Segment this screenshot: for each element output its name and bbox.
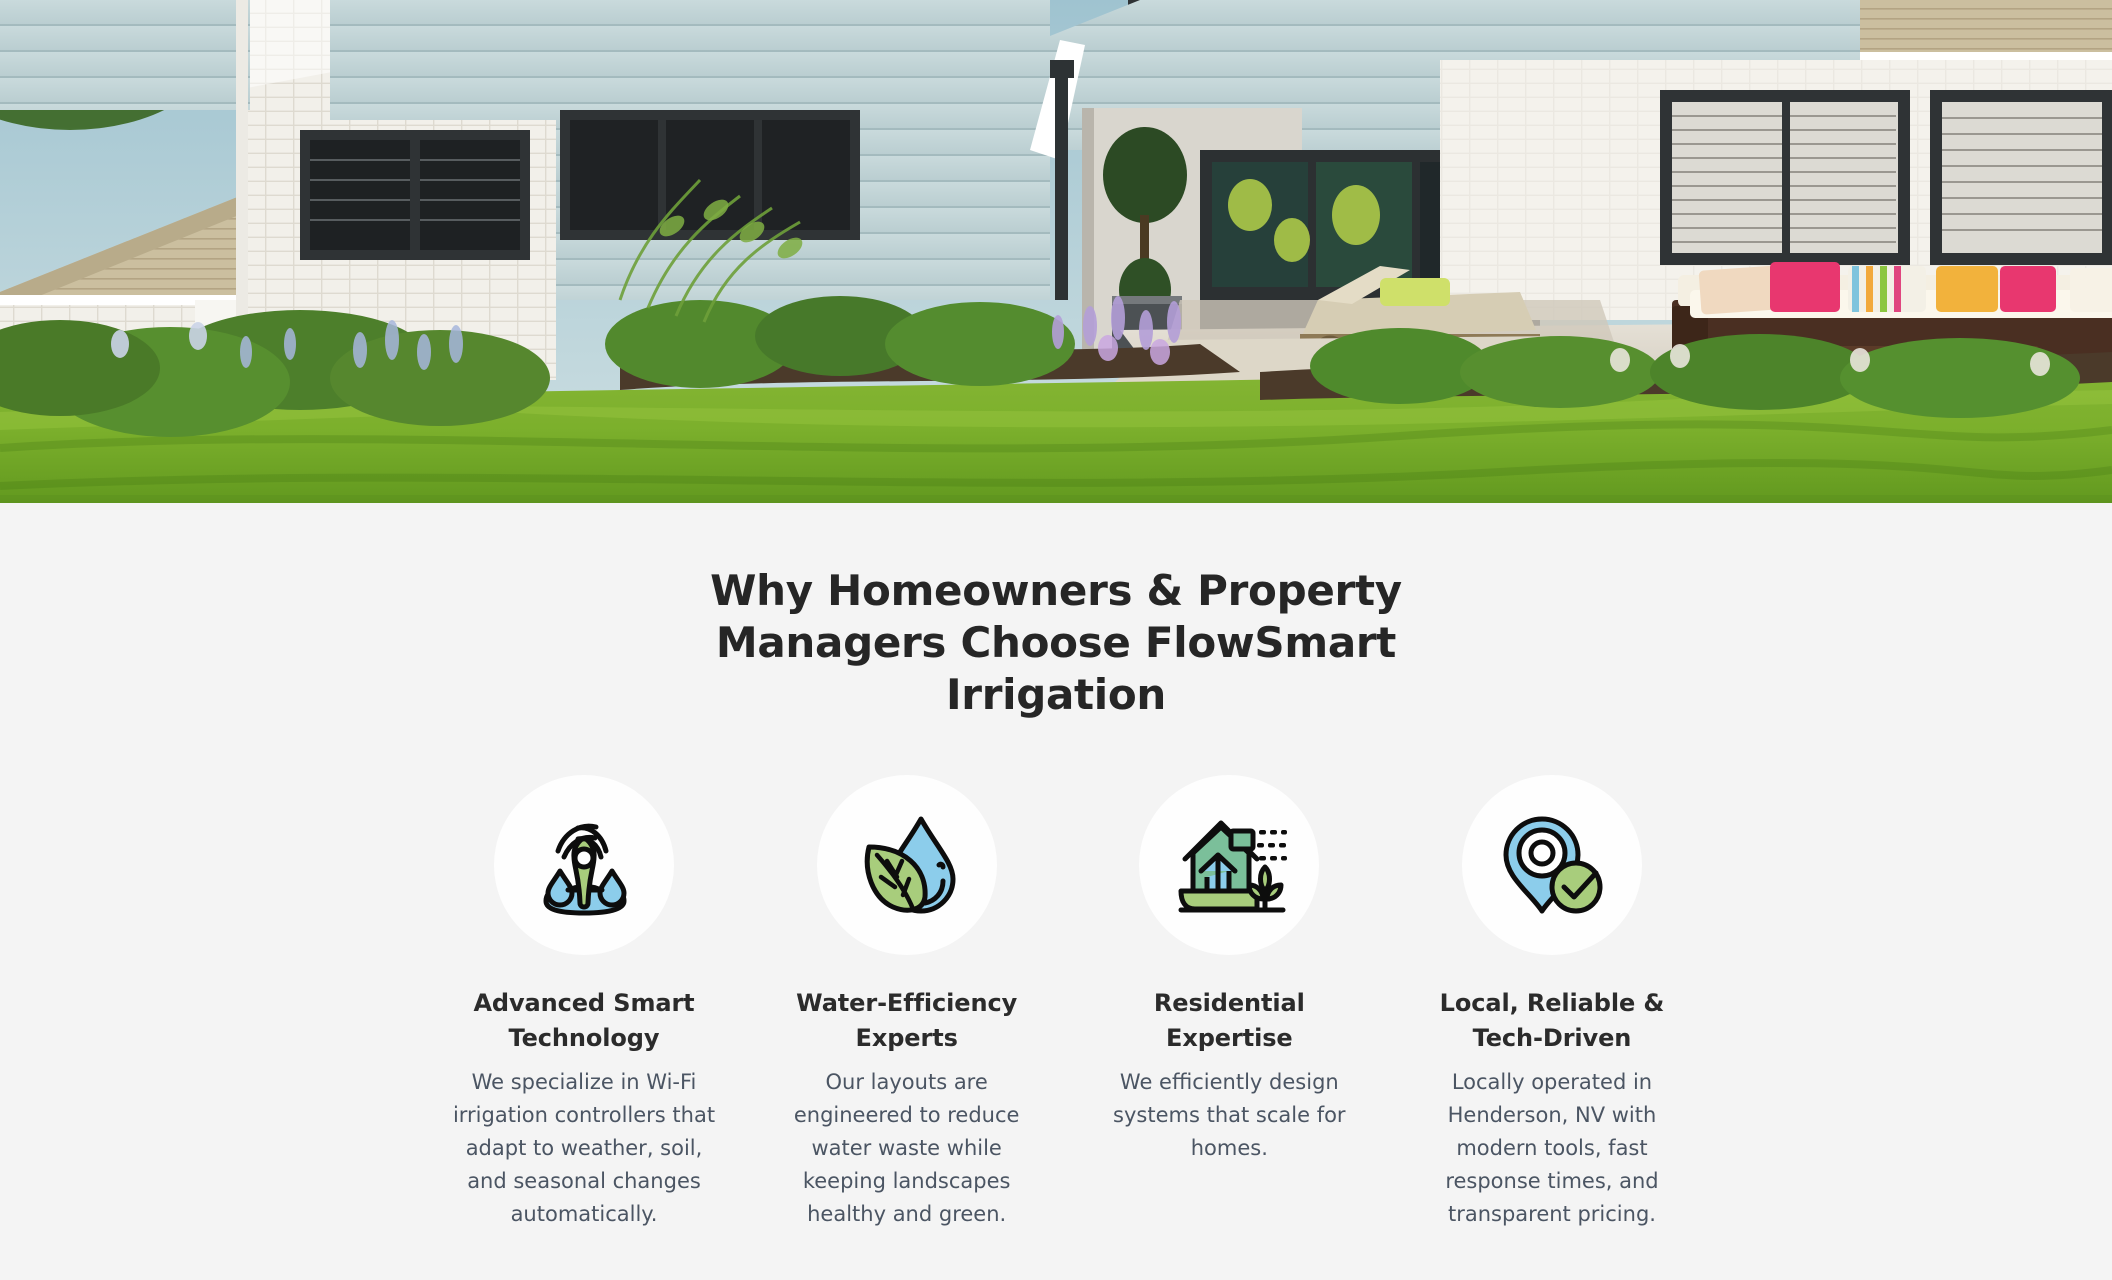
feature-card-title: Advanced Smart Technology <box>452 986 716 1056</box>
feature-card-title: Residential Expertise <box>1097 986 1361 1056</box>
feature-card-local-reliable-tech-driven: Local, Reliable & Tech-Driven Locally op… <box>1420 775 1684 1231</box>
map-pin-check-icon <box>1492 805 1612 925</box>
feature-card-body: We efficiently design systems that scale… <box>1097 1066 1361 1165</box>
feature-cards-row: Advanced Smart Technology We specialize … <box>452 775 1684 1255</box>
hero-image <box>0 0 2112 503</box>
icon-circle <box>494 775 674 955</box>
icon-circle <box>1139 775 1319 955</box>
leaf-water-droplet-icon <box>847 805 967 925</box>
house-sprinkler-icon <box>1169 805 1289 925</box>
feature-card-water-efficiency-experts: Water-Efficiency Experts Our layouts are… <box>775 775 1039 1231</box>
smart-sensor-wifi-water-icon <box>524 805 644 925</box>
page-root: Why Homeowners & Property Managers Choos… <box>0 0 2112 1280</box>
feature-card-body: Our layouts are engineered to reduce wat… <box>775 1066 1039 1231</box>
icon-circle <box>817 775 997 955</box>
feature-card-advanced-smart-technology: Advanced Smart Technology We specialize … <box>452 775 716 1231</box>
feature-card-title: Local, Reliable & Tech-Driven <box>1420 986 1684 1056</box>
icon-circle <box>1462 775 1642 955</box>
features-section: Why Homeowners & Property Managers Choos… <box>0 503 2112 1280</box>
feature-card-residential-expertise: Residential Expertise We efficiently des… <box>1097 775 1361 1165</box>
feature-card-body: Locally operated in Henderson, NV with m… <box>1420 1066 1684 1231</box>
feature-card-title: Water-Efficiency Experts <box>775 986 1039 1056</box>
feature-card-body: We specialize in Wi-Fi irrigation contro… <box>452 1066 716 1231</box>
section-heading: Why Homeowners & Property Managers Choos… <box>696 565 1416 721</box>
